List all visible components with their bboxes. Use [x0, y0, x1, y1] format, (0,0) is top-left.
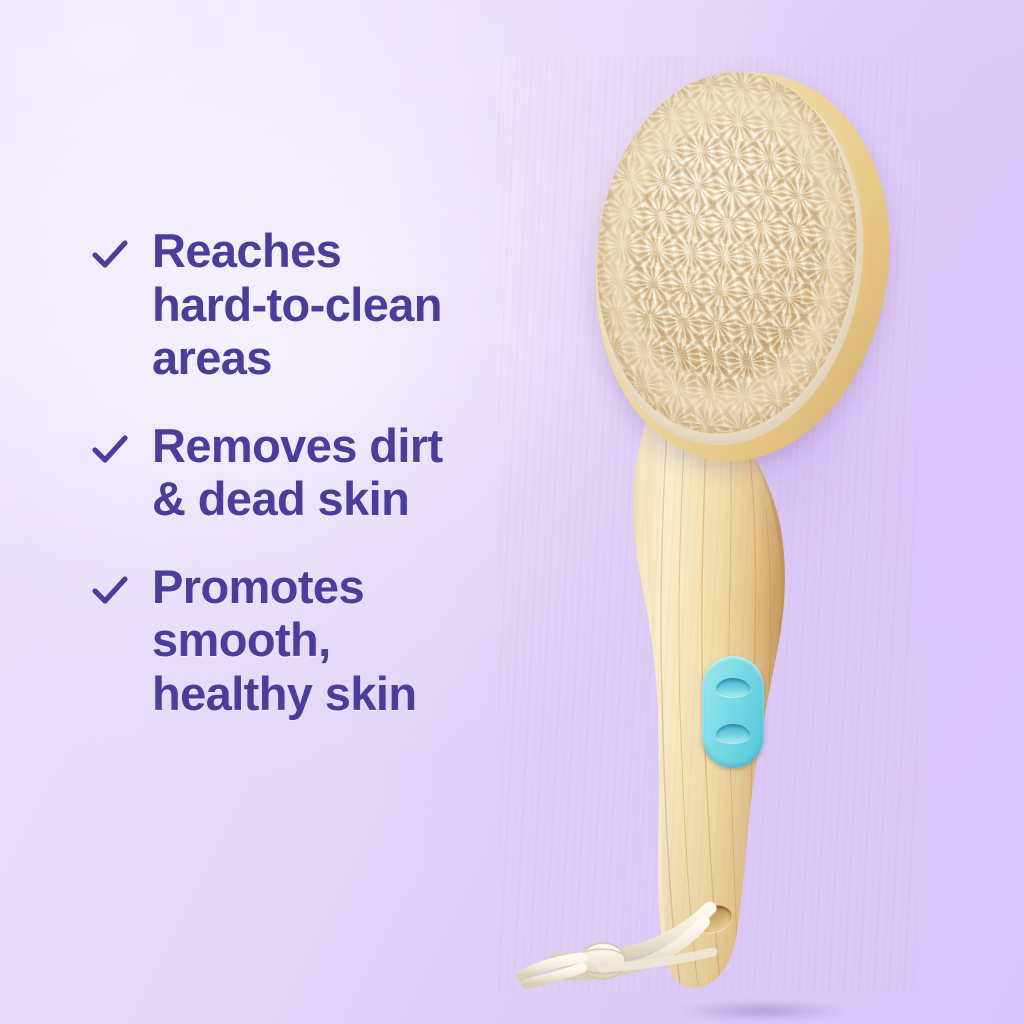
- check-icon: [88, 569, 132, 613]
- product-image-body-brush: [498, 58, 918, 993]
- grip-dimple-upper: [716, 678, 750, 697]
- benefit-text: Removes dirt & dead skin: [152, 419, 443, 526]
- product-marketing-image: Reaches hard-to-clean areas Removes dirt…: [0, 0, 1024, 1024]
- benefit-text: Reaches hard-to-clean areas: [152, 224, 442, 385]
- brush-head: [596, 72, 888, 462]
- bristle-tuft-texture: [580, 60, 874, 447]
- silicone-grip-pad: [702, 656, 764, 768]
- check-icon: [88, 428, 132, 472]
- grip-dimple-lower: [716, 724, 750, 743]
- benefit-item-removes: Removes dirt & dead skin: [88, 419, 518, 526]
- benefit-item-promotes: Promotes smooth, healthy skin: [88, 560, 518, 721]
- hanging-cord: [498, 848, 798, 1008]
- benefit-text: Promotes smooth, healthy skin: [152, 560, 416, 721]
- benefit-item-reaches: Reaches hard-to-clean areas: [88, 224, 518, 385]
- brush-bristles: [580, 60, 874, 447]
- check-icon: [88, 233, 132, 277]
- benefit-list: Reaches hard-to-clean areas Removes dirt…: [88, 224, 518, 755]
